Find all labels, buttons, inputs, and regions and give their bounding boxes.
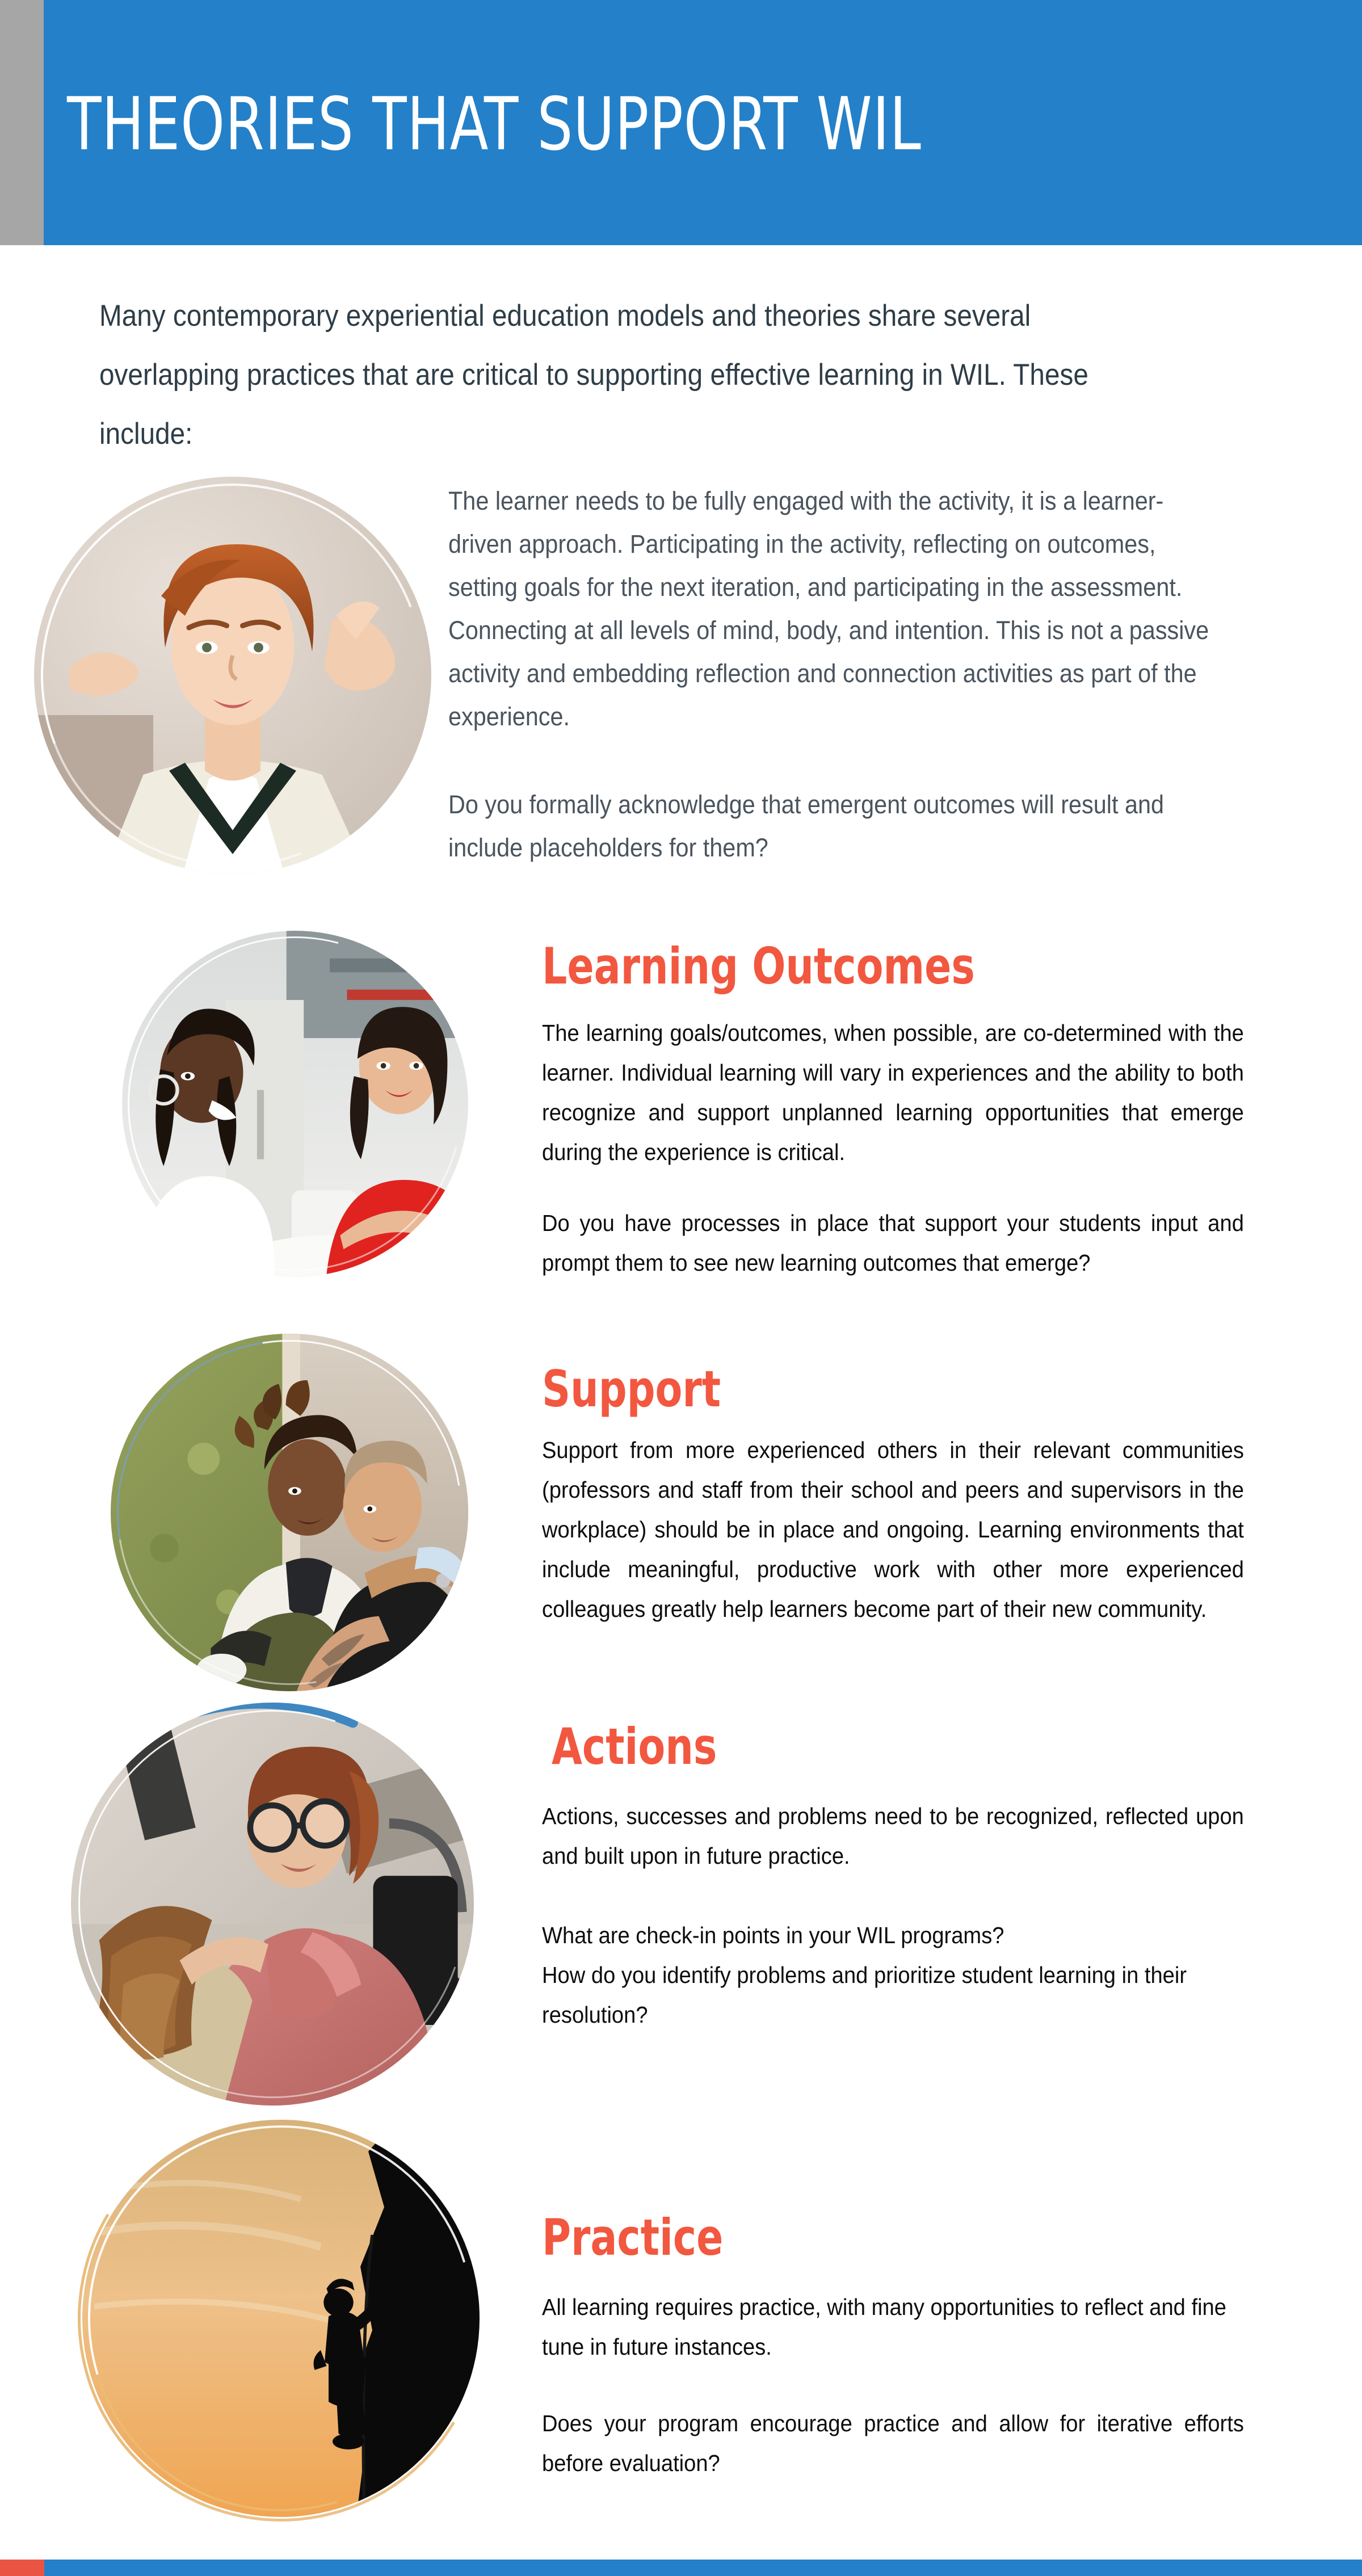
section-paragraph-actions-1: Actions, successes and problems need to … bbox=[542, 1796, 1244, 1876]
slide-page: THEORIES THAT SUPPORT WIL Many contempor… bbox=[0, 0, 1362, 2576]
section-paragraph-learning-outcomes-2: Do you have processes in place that supp… bbox=[542, 1203, 1244, 1283]
section-image-actions bbox=[71, 1703, 474, 2106]
photo-woman-in-wheelchair-with-child bbox=[71, 1703, 474, 2106]
section-paragraph-practice-1: All learning requires practice, with man… bbox=[542, 2287, 1255, 2367]
section-paragraph-engagement-1: The learner needs to be fully engaged wi… bbox=[448, 480, 1210, 738]
footer-bar bbox=[44, 2560, 1362, 2576]
section-paragraph-learning-outcomes-1: The learning goals/outcomes, when possib… bbox=[542, 1013, 1244, 1172]
section-paragraph-support-1: Support from more experienced others in … bbox=[542, 1430, 1244, 1629]
photo-two-men-sitting-outdoors bbox=[111, 1334, 468, 1691]
section-paragraph-actions-2: What are check-in points in your WIL pro… bbox=[542, 1915, 1255, 1955]
section-heading-practice: Practice bbox=[542, 2211, 723, 2265]
section-image-practice bbox=[82, 2120, 480, 2517]
section-paragraph-engagement-2: Do you formally acknowledge that emergen… bbox=[448, 783, 1210, 869]
header-gray-accent-bar bbox=[0, 0, 44, 245]
intro-paragraph: Many contemporary experiential education… bbox=[99, 287, 1100, 464]
section-paragraph-practice-2: Does your program encourage practice and… bbox=[542, 2403, 1244, 2483]
section-paragraph-actions-3: How do you identify problems and priorit… bbox=[542, 1955, 1255, 2035]
photo-climber-silhouette-at-sunset bbox=[82, 2120, 480, 2517]
footer-red-accent bbox=[0, 2560, 44, 2576]
section-image-engagement bbox=[34, 477, 431, 874]
page-title: THEORIES THAT SUPPORT WIL bbox=[67, 82, 1141, 167]
section-heading-support: Support bbox=[542, 1362, 721, 1417]
section-heading-learning-outcomes: Learning Outcomes bbox=[542, 939, 975, 994]
section-image-support bbox=[111, 1334, 468, 1691]
section-image-learning-outcomes bbox=[122, 931, 468, 1277]
photo-two-women-talking bbox=[122, 931, 468, 1277]
photo-young-person-thinking bbox=[34, 477, 431, 874]
section-heading-actions: Actions bbox=[552, 1720, 717, 1774]
